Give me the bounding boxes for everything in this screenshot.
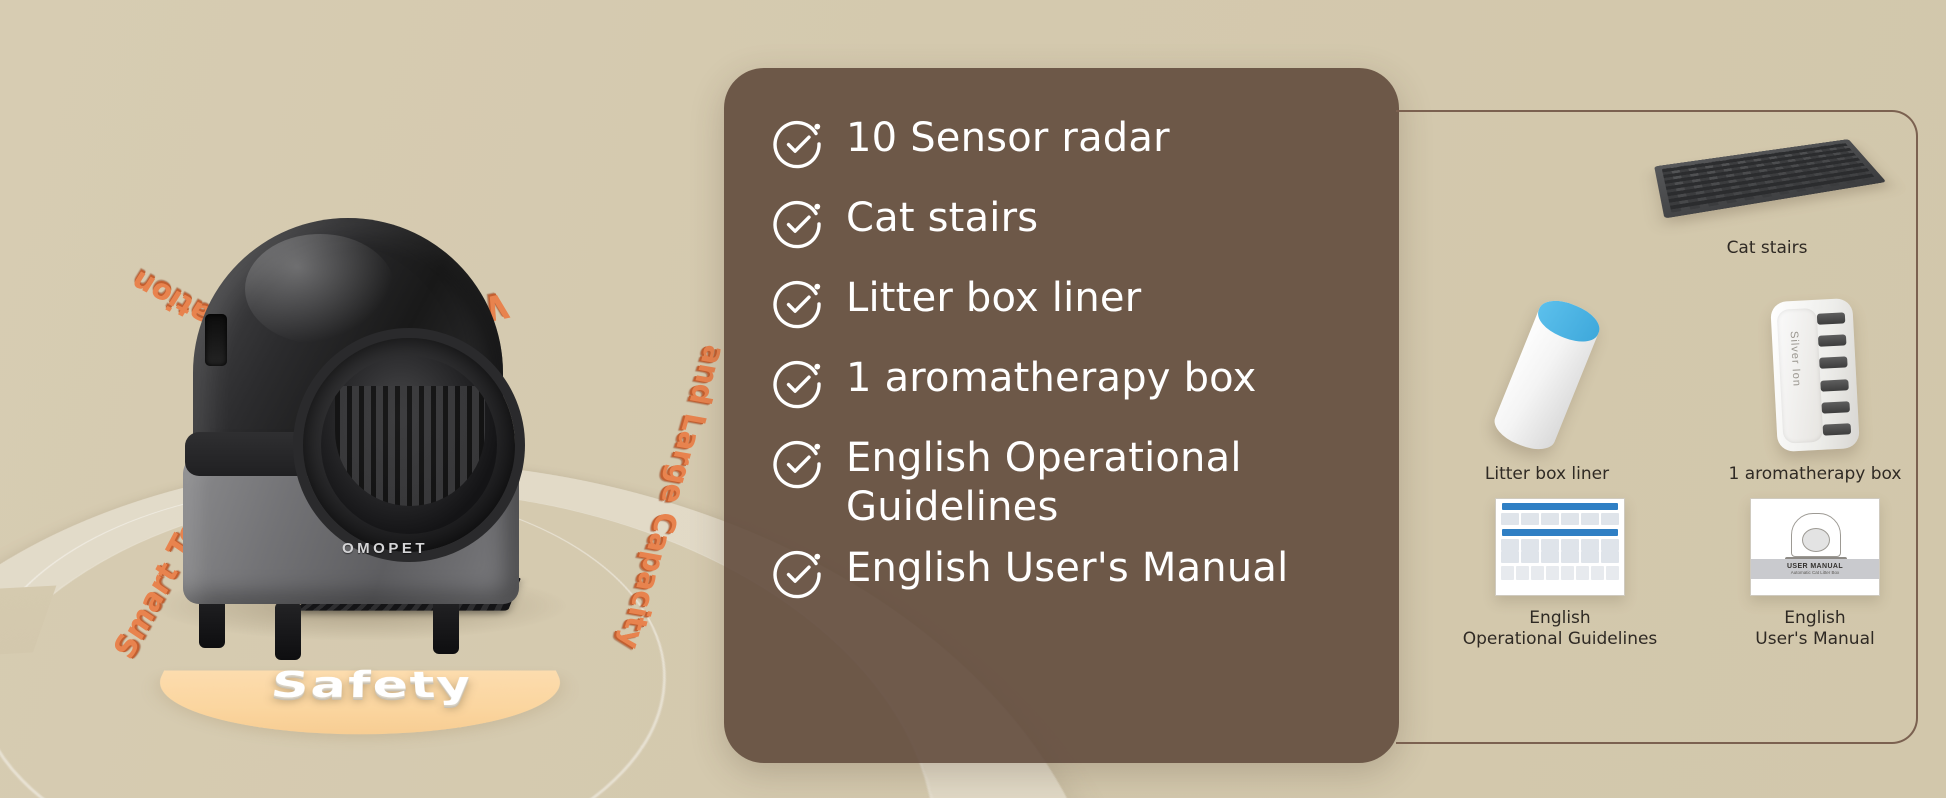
interior-grill [335, 386, 485, 506]
feature-item-litter-box-liner: Litter box liner [772, 274, 1369, 332]
feature-list-panel: 10 Sensor radar Cat stairs [724, 68, 1399, 763]
sheet-header-bar [1502, 503, 1618, 510]
feature-item-label: English User's Manual [846, 544, 1288, 593]
feature-list: 10 Sensor radar Cat stairs [772, 114, 1369, 624]
accessory-caption: 1 aromatherapy box [1690, 464, 1940, 485]
feature-item-label: Litter box liner [846, 274, 1141, 323]
dome-highlight [245, 234, 395, 344]
check-circle-icon [772, 118, 824, 170]
accessory-cat-stairs: Cat stairs [1622, 128, 1912, 259]
manual-cover-title: USER MANUAL [1751, 563, 1879, 570]
infographic-canvas: Safety Smart Technology ration W and Lar… [0, 0, 1946, 798]
feature-item-operational-guidelines: English Operational Guidelines [772, 434, 1369, 532]
mat-slots [1661, 143, 1876, 213]
feature-item-users-manual: English User's Manual [772, 544, 1369, 602]
product-hero-scene: Safety Smart Technology ration W and Lar… [0, 0, 760, 798]
manual-cover-illustration [1791, 513, 1841, 557]
accessory-users-manual: USER MANUAL Automatic Cat Litter Box Eng… [1700, 498, 1930, 651]
vent-slot [1820, 379, 1849, 391]
sheet-diagram-row [1496, 551, 1624, 563]
guidelines-sheet-icon [1495, 498, 1625, 596]
product-opening [303, 338, 515, 552]
sheet-header-bar [1502, 529, 1618, 536]
vent-slot [1817, 312, 1846, 324]
liner-roll-cap [1533, 293, 1605, 348]
vent-slot [1818, 335, 1847, 347]
vent-slot [1821, 401, 1850, 413]
manual-cover-subtitle: Automatic Cat Litter Box [1751, 570, 1879, 575]
accessory-caption-line1: English [1450, 608, 1670, 629]
aroma-box-icon: Silver Ion [1770, 298, 1860, 452]
accessory-caption-line2: Operational Guidelines [1450, 629, 1670, 650]
feature-item-label: 1 aromatherapy box [846, 354, 1256, 403]
check-circle-icon [772, 358, 824, 410]
sheet-diagram-row [1496, 513, 1624, 525]
product-leg [275, 602, 301, 660]
check-circle-icon [772, 198, 824, 250]
safety-label: Safety [217, 665, 527, 707]
check-circle-icon [772, 548, 824, 600]
accessory-caption-line2: User's Manual [1700, 629, 1930, 650]
accessory-litter-box-liner: Litter box liner [1432, 300, 1662, 485]
litter-box-render: OMOPET [175, 218, 545, 618]
check-circle-icon [772, 278, 824, 330]
check-circle-icon [772, 438, 824, 490]
feature-item-label: 10 Sensor radar [846, 114, 1170, 163]
feature-item-aromatherapy-box: 1 aromatherapy box [772, 354, 1369, 412]
sheet-phone-row [1496, 563, 1624, 580]
accessory-operational-guidelines: English Operational Guidelines [1450, 498, 1670, 651]
accessory-caption: Litter box liner [1432, 464, 1662, 485]
vent-slot [1819, 357, 1848, 369]
accessory-aromatherapy-box: Silver Ion 1 aromatherapy box [1690, 300, 1940, 485]
grate-mat-icon [1654, 139, 1886, 218]
accessory-caption-line1: English [1700, 608, 1930, 629]
manual-cover-title-band: USER MANUAL Automatic Cat Litter Box [1751, 559, 1879, 579]
liner-roll-icon [1489, 293, 1605, 456]
feature-item-label: Cat stairs [846, 194, 1038, 243]
aroma-box-vents [1817, 312, 1851, 435]
dome-vent-slot [205, 314, 227, 366]
feature-item-sensor-radar: 10 Sensor radar [772, 114, 1369, 172]
opening-interior [321, 356, 497, 534]
product-leg [433, 596, 459, 654]
feature-item-cat-stairs: Cat stairs [772, 194, 1369, 252]
accessory-caption: Cat stairs [1622, 238, 1912, 259]
brand-logo-text: OMOPET [325, 540, 445, 557]
vent-slot [1823, 423, 1852, 435]
user-manual-icon: USER MANUAL Automatic Cat Litter Box [1750, 498, 1880, 596]
feature-item-label: English Operational Guidelines [846, 434, 1306, 532]
sheet-diagram-row [1496, 539, 1624, 551]
